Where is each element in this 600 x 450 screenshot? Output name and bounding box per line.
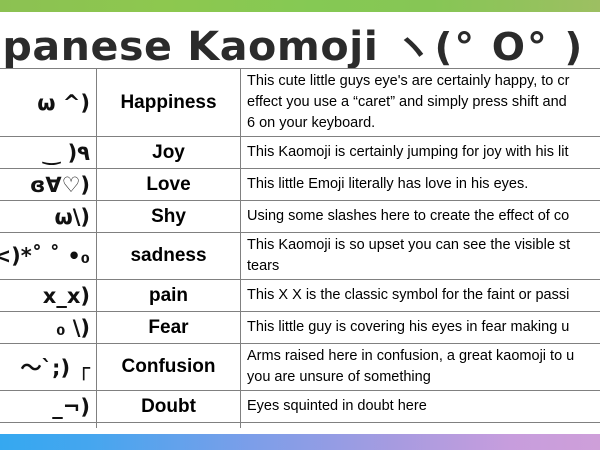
table-row: ‿ )۹ Joy This Kaomoji is certainly jumpi…: [0, 137, 600, 169]
kaomoji-table-body: ω ^) Happiness This cute little guys eye…: [0, 69, 600, 429]
emotion-label-cell: Fear: [97, 312, 241, 344]
bottom-gradient-bar: [0, 434, 600, 450]
kaomoji-face-cell: _¬): [0, 391, 97, 423]
slide-title-area: apanese Kaomoji ヽ(° O° ): [0, 12, 600, 68]
kaomoji-face-cell: ɞ∀♡): [0, 169, 97, 201]
kaomoji-face-cell: ₀ \): [0, 312, 97, 344]
table-row: 〜`;) ┌ Confusion Arms raised here in con…: [0, 344, 600, 391]
table-row: ω ^) Happiness This cute little guys eye…: [0, 69, 600, 137]
emotion-label-cell: Confusion: [97, 344, 241, 391]
kaomoji-face-cell: x_x): [0, 280, 97, 312]
kaomoji-face-cell: ‿ )۹: [0, 137, 97, 169]
kaomoji-table: ω ^) Happiness This cute little guys eye…: [0, 68, 600, 428]
description-cell: This Kaomoji is so upset you can see the…: [241, 233, 600, 280]
description-cell: Arms raised here in confusion, a great k…: [241, 344, 600, 391]
kaomoji-face-cell: ω\): [0, 201, 97, 233]
description-cell: Eyes squinted in doubt here: [241, 391, 600, 423]
table-row: ₀ \) Fear This little guy is covering hi…: [0, 312, 600, 344]
table-row: _¬) Doubt Eyes squinted in doubt here: [0, 391, 600, 423]
description-line: you are unsure of something: [247, 367, 600, 388]
description-line: This Kaomoji is certainly jumping for jo…: [247, 142, 600, 163]
description-line: Eyes squinted in doubt here: [247, 396, 600, 417]
description-cell: This little guy is covering his eyes in …: [241, 312, 600, 344]
emotion-label-cell: sadness: [97, 233, 241, 280]
description-line: This cute little guys eye's are certainl…: [247, 71, 600, 92]
table-row: ω\) Shy Using some slashes here to creat…: [0, 201, 600, 233]
description-line: This Kaomoji is so upset you can see the…: [247, 235, 600, 256]
description-line: 6 on your keyboard.: [247, 113, 600, 134]
kaomoji-face-cell: ω ^): [0, 69, 97, 137]
page-title-kaomoji: ヽ(° O° ): [393, 25, 584, 68]
table-row: ɞ∀♡) Love This little Emoji literally ha…: [0, 169, 600, 201]
description-line: Using some slashes here to create the ef…: [247, 206, 600, 227]
emotion-label-cell: Love: [97, 169, 241, 201]
description-cell: This little Emoji literally has love in …: [241, 169, 600, 201]
page-title-text: apanese Kaomoji: [0, 24, 378, 68]
top-gradient-bar: [0, 0, 600, 12]
kaomoji-face-cell: д<)*˚ ˚ •₀: [0, 233, 97, 280]
emotion-label-cell: Shy: [97, 201, 241, 233]
description-line: effect you use a “caret” and simply pres…: [247, 92, 600, 113]
description-line: This little Emoji literally has love in …: [247, 174, 600, 195]
description-cell: Using some slashes here to create the ef…: [241, 201, 600, 233]
description-line: This X X is the classic symbol for the f…: [247, 285, 600, 306]
table-row: д<)*˚ ˚ •₀ sadness This Kaomoji is so up…: [0, 233, 600, 280]
emotion-label-cell: pain: [97, 280, 241, 312]
emotion-label-cell: Joy: [97, 137, 241, 169]
description-line: This little guy is covering his eyes in …: [247, 317, 600, 338]
emotion-label-cell: Happiness: [97, 69, 241, 137]
table-row: x_x) pain This X X is the classic symbol…: [0, 280, 600, 312]
page-title: apanese Kaomoji ヽ(° O° ): [0, 16, 584, 68]
description-line: Arms raised here in confusion, a great k…: [247, 346, 600, 367]
description-cell: This cute little guys eye's are certainl…: [241, 69, 600, 137]
description-cell: This Kaomoji is certainly jumping for jo…: [241, 137, 600, 169]
kaomoji-face-cell: 〜`;) ┌: [0, 344, 97, 391]
slide-canvas: apanese Kaomoji ヽ(° O° ) ω ^) Happiness …: [0, 0, 600, 450]
emotion-label-cell: Doubt: [97, 391, 241, 423]
description-line: tears: [247, 256, 600, 277]
kaomoji-table-clip: ω ^) Happiness This cute little guys eye…: [0, 68, 600, 428]
description-cell: This X X is the classic symbol for the f…: [241, 280, 600, 312]
